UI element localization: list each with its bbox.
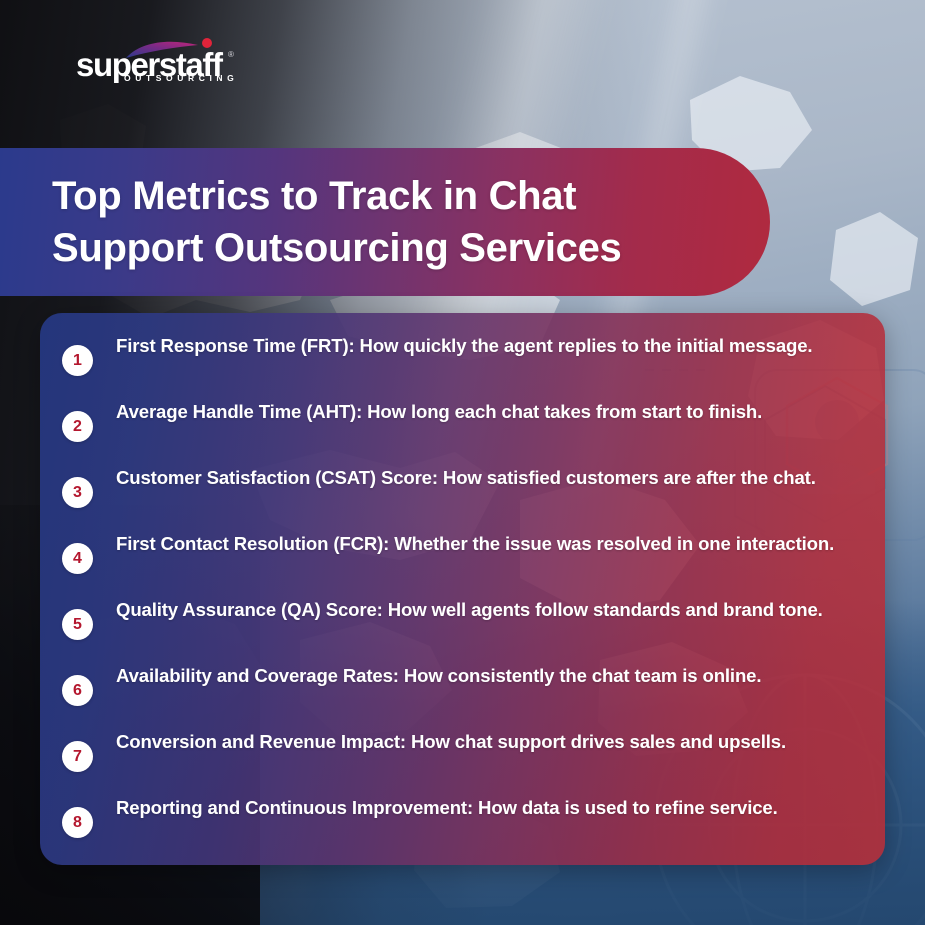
superstaff-logo[interactable]: superstaff ® OUTSOURCING — [76, 40, 242, 84]
item-number-badge: 7 — [62, 741, 93, 772]
metrics-panel: 1 First Response Time (FRT): How quickly… — [40, 313, 885, 865]
item-number-badge: 8 — [62, 807, 93, 838]
logo-registered-mark: ® — [228, 50, 234, 59]
item-number-badge: 1 — [62, 345, 93, 376]
item-text: Availability and Coverage Rates: How con… — [116, 666, 761, 687]
item-text: Reporting and Continuous Improvement: Ho… — [116, 798, 778, 819]
list-item[interactable]: 5 Quality Assurance (QA) Score: How well… — [40, 599, 885, 665]
item-number-badge: 3 — [62, 477, 93, 508]
item-text: Average Handle Time (AHT): How long each… — [116, 402, 762, 423]
list-item[interactable]: 3 Customer Satisfaction (CSAT) Score: Ho… — [40, 467, 885, 533]
list-item[interactable]: 7 Conversion and Revenue Impact: How cha… — [40, 731, 885, 797]
item-text: Customer Satisfaction (CSAT) Score: How … — [116, 468, 816, 489]
list-item[interactable]: 2 Average Handle Time (AHT): How long ea… — [40, 401, 885, 467]
title-line-2: Support Outsourcing Services — [52, 222, 622, 274]
logo-tagline: OUTSOURCING — [124, 73, 238, 83]
item-text: First Response Time (FRT): How quickly t… — [116, 336, 812, 357]
infographic-canvas: superstaff ® OUTSOURCING Top Metrics to … — [0, 0, 925, 925]
list-item[interactable]: 4 First Contact Resolution (FCR): Whethe… — [40, 533, 885, 599]
page-title: Top Metrics to Track in Chat Support Out… — [0, 170, 666, 274]
list-item[interactable]: 8 Reporting and Continuous Improvement: … — [40, 797, 885, 863]
list-item[interactable]: 1 First Response Time (FRT): How quickly… — [40, 335, 885, 401]
item-text: Quality Assurance (QA) Score: How well a… — [116, 600, 823, 621]
item-text: Conversion and Revenue Impact: How chat … — [116, 732, 786, 753]
item-text: First Contact Resolution (FCR): Whether … — [116, 534, 834, 555]
item-number-badge: 4 — [62, 543, 93, 574]
title-line-1: Top Metrics to Track in Chat — [52, 174, 576, 218]
item-number-badge: 2 — [62, 411, 93, 442]
list-item[interactable]: 6 Availability and Coverage Rates: How c… — [40, 665, 885, 731]
item-number-badge: 6 — [62, 675, 93, 706]
title-banner: Top Metrics to Track in Chat Support Out… — [0, 148, 770, 296]
item-number-badge: 5 — [62, 609, 93, 640]
metrics-list: 1 First Response Time (FRT): How quickly… — [40, 335, 885, 863]
